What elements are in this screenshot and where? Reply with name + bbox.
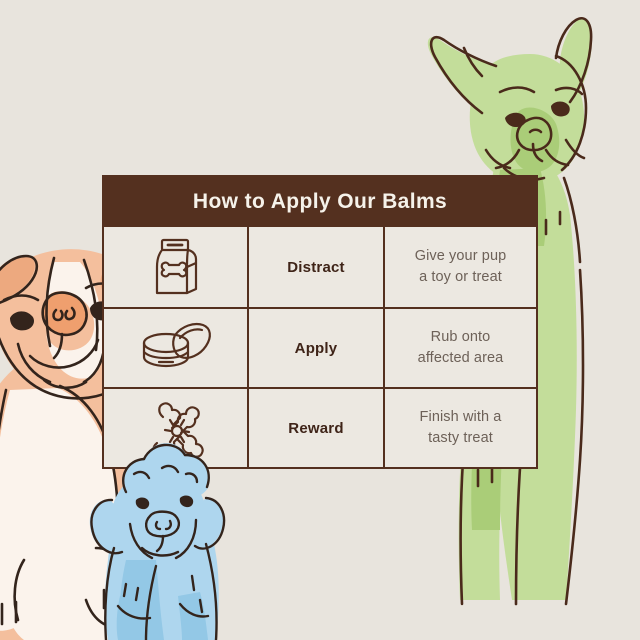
description-line: Give your pup: [415, 248, 507, 264]
step-description-cell: Rub onto affected area: [385, 309, 536, 387]
page-title: How to Apply Our Balms: [193, 190, 447, 214]
step-description-cell: Give your pup a toy or treat: [385, 227, 536, 307]
crossed-bones-icon: [143, 397, 209, 459]
description-line: tasty treat: [428, 430, 493, 446]
table-row: Reward Finish with a tasty treat: [104, 387, 536, 467]
step-label-cell: Apply: [249, 309, 385, 387]
blue-fluffy-dog-illustration: [90, 443, 224, 640]
description-line: a toy or treat: [419, 269, 502, 285]
step-description-cell: Finish with a tasty treat: [385, 389, 536, 467]
step-label-cell: Distract: [249, 227, 385, 307]
table-row: Apply Rub onto affected area: [104, 307, 536, 387]
step-description: Finish with a tasty treat: [412, 407, 510, 449]
step-label-cell: Reward: [249, 389, 385, 467]
steps-table: Distract Give your pup a toy or treat: [104, 227, 536, 467]
step-label: Distract: [287, 259, 344, 276]
description-line: Finish with a: [420, 409, 502, 425]
how-to-apply-card: How to Apply Our Balms: [102, 175, 538, 469]
description-line: Rub onto: [431, 329, 491, 345]
step-description: Give your pup a toy or treat: [407, 246, 515, 288]
step-label: Apply: [295, 340, 338, 357]
step-icon-cell: [104, 309, 249, 387]
treat-bag-icon: [149, 237, 203, 297]
balm-tin-icon: [138, 319, 214, 377]
table-row: Distract Give your pup a toy or treat: [104, 227, 536, 307]
description-line: affected area: [418, 350, 504, 366]
step-icon-cell: [104, 227, 249, 307]
step-description: Rub onto affected area: [410, 327, 512, 369]
step-icon-cell: [104, 389, 249, 467]
poster-canvas: How to Apply Our Balms: [0, 0, 640, 640]
card-header: How to Apply Our Balms: [104, 177, 536, 227]
step-label: Reward: [288, 420, 343, 437]
